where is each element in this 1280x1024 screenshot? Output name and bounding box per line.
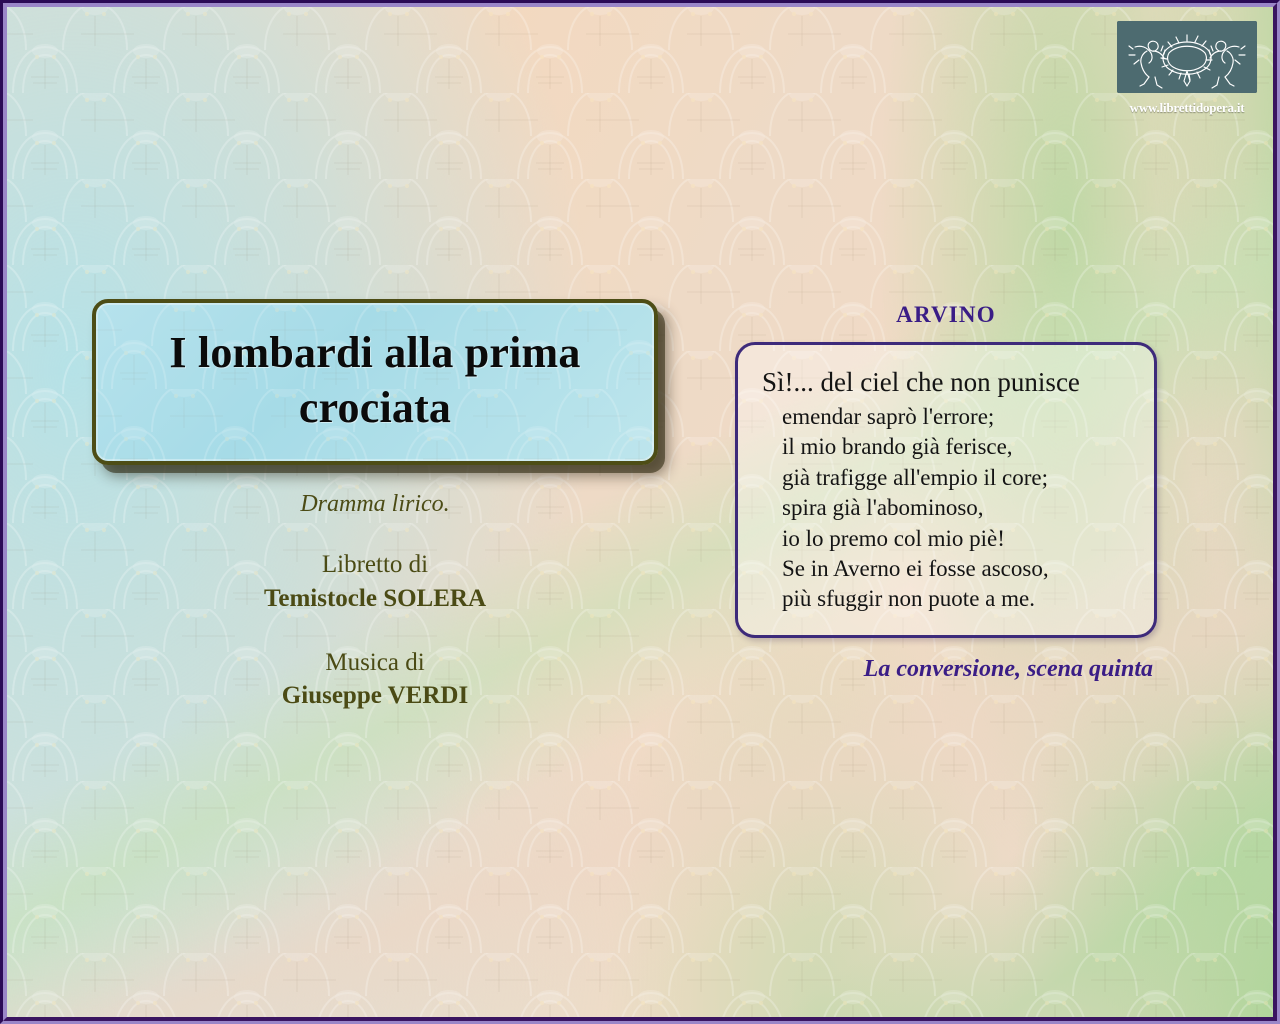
- opera-genre: Dramma lirico.: [92, 491, 658, 518]
- composer-name: Giuseppe VERDI: [92, 679, 658, 713]
- site-logo[interactable]: www.librettidopera.it: [1117, 21, 1257, 116]
- verse-line: il mio brando già ferisce,: [758, 432, 1138, 462]
- librettist-name: Temistocle SOLERA: [92, 582, 658, 616]
- aria-text-box: Sì!... del ciel che non punisce emendar …: [735, 342, 1157, 638]
- opera-info-column: I lombardi alla prima crociata Dramma li…: [92, 299, 658, 713]
- verse-line: Se in Averno ei fosse ascoso,: [758, 554, 1138, 584]
- page-title: I lombardi alla prima crociata: [122, 325, 628, 435]
- verse-line: io lo premo col mio piè!: [758, 524, 1138, 554]
- site-url-text: www.librettidopera.it: [1117, 100, 1257, 116]
- librettist-credit: Libretto di Temistocle SOLERA: [92, 548, 658, 616]
- composer-role-label: Musica di: [92, 646, 658, 680]
- title-plate: I lombardi alla prima crociata: [92, 299, 658, 465]
- scene-caption: La conversione, scena quinta: [735, 656, 1157, 683]
- libretto-page: www.librettidopera.it I lombardi alla pr…: [0, 0, 1280, 1024]
- verse-line: spira già l'abominoso,: [758, 493, 1138, 523]
- cherubs-laurel-wreath-icon: [1117, 21, 1257, 93]
- verse-line: emendar saprò l'errore;: [758, 402, 1138, 432]
- verse-line: già trafigge all'empio il core;: [758, 463, 1138, 493]
- librettist-role-label: Libretto di: [92, 548, 658, 582]
- verse-line: Sì!... del ciel che non punisce: [758, 365, 1138, 400]
- character-name: ARVINO: [735, 302, 1157, 328]
- aria-excerpt-column: ARVINO Sì!... del ciel che non punisce e…: [735, 302, 1157, 683]
- verse-line: più sfuggir non puote a me.: [758, 584, 1138, 614]
- composer-credit: Musica di Giuseppe VERDI: [92, 646, 658, 714]
